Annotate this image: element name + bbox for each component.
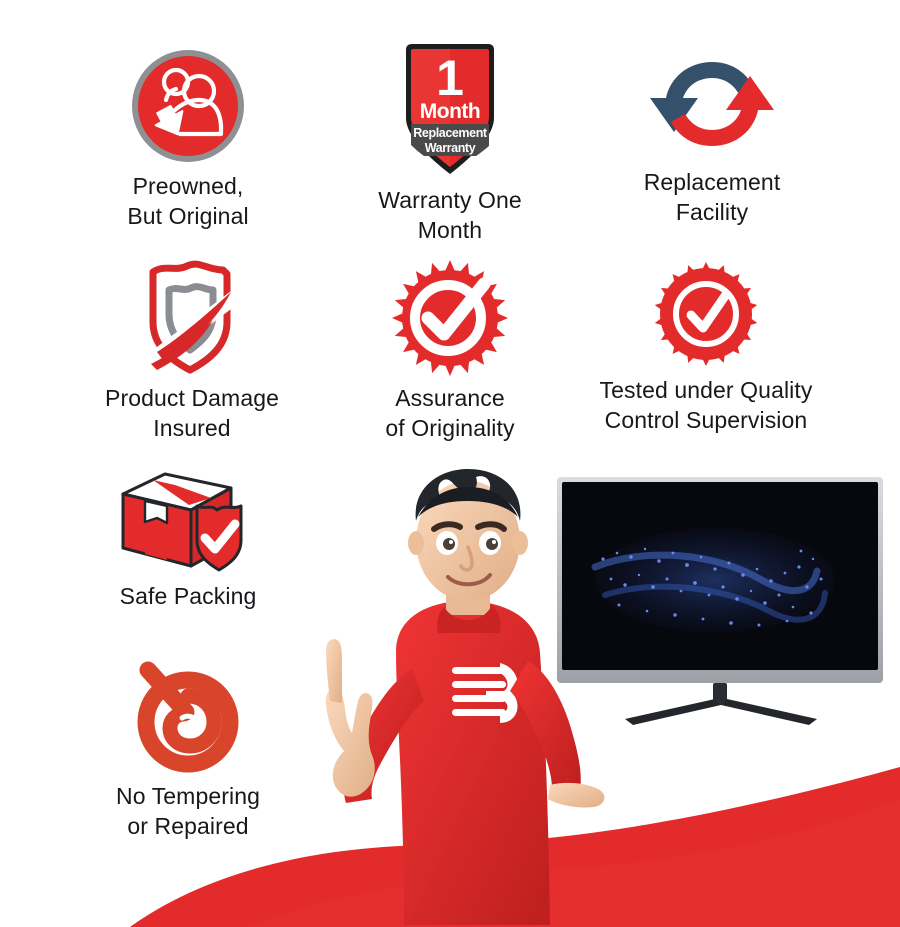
preowned-users-arrow-icon [128, 46, 248, 166]
no-tempering-wrench-icon [126, 654, 250, 776]
replacement-two-arrows-icon [644, 46, 780, 162]
feature-assurance[interactable]: Assurance of Originality [340, 258, 560, 444]
badge-number: 1 [436, 50, 464, 106]
feature-label: Product Damage Insured [105, 384, 279, 444]
warranty-shield-badge-icon: 1 Month Replacement Warranty [392, 40, 508, 180]
badge-band-line1: Replacement [413, 126, 488, 140]
feature-label: Warranty One Month [378, 186, 522, 246]
feature-tested[interactable]: Tested under Quality Control Supervision [572, 258, 840, 436]
box-shield-check-icon [113, 468, 263, 576]
feature-packing[interactable]: Safe Packing [66, 468, 310, 612]
mascot-tv-scene [300, 455, 890, 925]
feature-label: Tested under Quality Control Supervision [600, 376, 813, 436]
brand-mascot-character [300, 455, 640, 925]
starburst-check-outline-icon [388, 258, 512, 378]
badge-band-line2: Warranty [425, 141, 476, 155]
feature-preowned[interactable]: Preowned, But Original [66, 46, 310, 232]
damaged-shield-icon [131, 258, 253, 378]
feature-label: No Tempering or Repaired [116, 782, 260, 842]
feature-label: Replacement Facility [644, 168, 781, 228]
feature-label: Preowned, But Original [127, 172, 248, 232]
banner-stage: Preowned, But Original 1 Month Replaceme… [0, 0, 900, 927]
feature-tempering[interactable]: No Tempering or Repaired [66, 654, 310, 842]
feature-label: Safe Packing [120, 582, 257, 612]
feature-replacement[interactable]: Replacement Facility [590, 46, 834, 228]
badge-period: Month [420, 100, 480, 123]
feature-warranty[interactable]: 1 Month Replacement Warranty Warranty On… [340, 40, 560, 246]
feature-label: Assurance of Originality [385, 384, 514, 444]
feature-damage[interactable]: Product Damage Insured [66, 258, 318, 444]
quality-seal-check-icon [649, 258, 763, 370]
